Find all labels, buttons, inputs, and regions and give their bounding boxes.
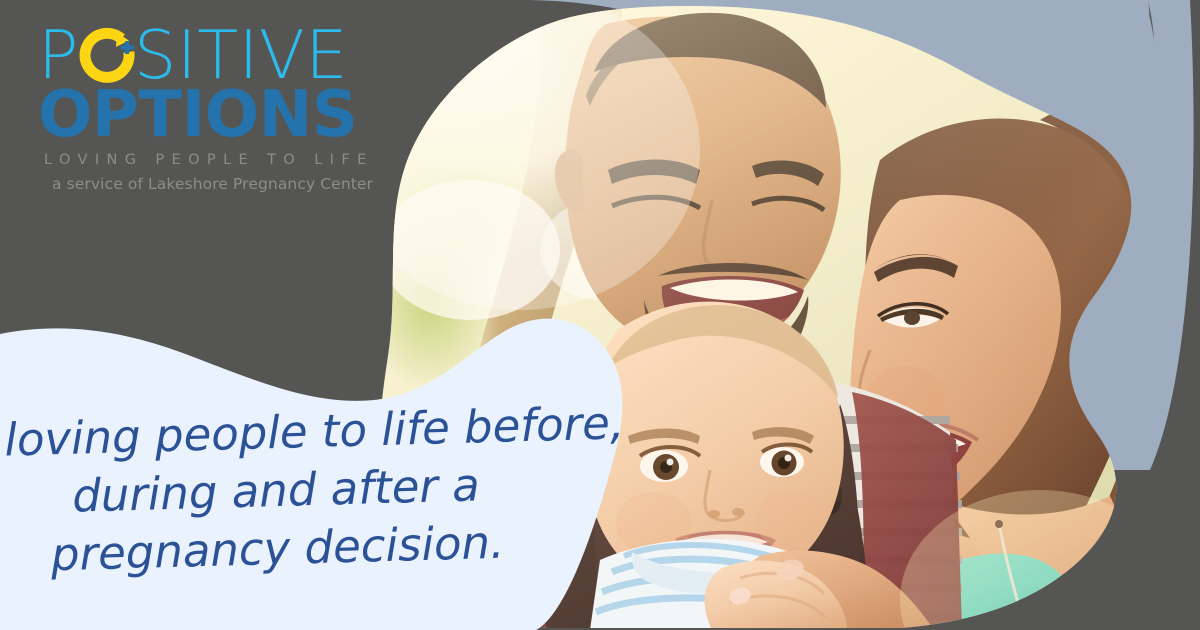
logo-subline: a service of Lakeshore Pregnancy Center: [52, 175, 388, 193]
logo-wordmark-options: OPTIONS: [38, 84, 388, 146]
positive-o-icon: [79, 27, 135, 83]
promo-graphic-canvas: P SITIVE OPTIONS LOVING PEOPLE TO LIFE a…: [0, 0, 1200, 630]
positive-options-logo: P SITIVE OPTIONS LOVING PEOPLE TO LIFE a…: [38, 22, 388, 193]
quote-text: loving people to life before, during and…: [4, 396, 549, 585]
logo-tagline: LOVING PEOPLE TO LIFE: [44, 152, 388, 168]
